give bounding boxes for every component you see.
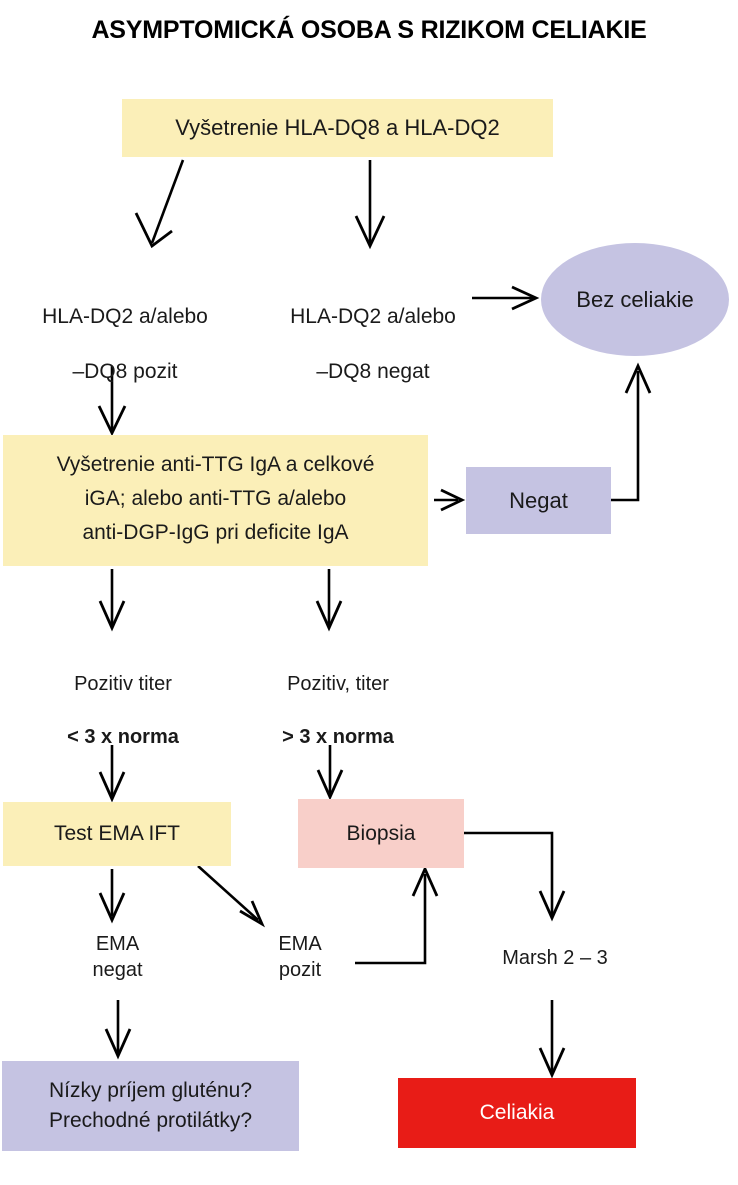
label-ema-pozit: EMA pozit [230, 931, 370, 984]
label-hla-positive-line2: –DQ8 pozit [0, 358, 250, 386]
node-bez-celiakie[interactable]: Bez celiakie [541, 243, 729, 356]
serology-line-2: iGA; alebo anti-TTG a/alebo [3, 482, 428, 516]
edge-biopsia-to-marsh [464, 833, 564, 918]
serology-line-1: Vyšetrenie anti-TTG IgA a celkové [3, 448, 428, 482]
label-hla-negative-line2: –DQ8 negat [248, 358, 498, 386]
edge-serology-to-titerlow [100, 569, 124, 628]
node-biopsia[interactable]: Biopsia [298, 799, 464, 868]
node-serology-test[interactable]: Vyšetrenie anti-TTG IgA a celkové iGA; a… [3, 435, 428, 566]
label-titer-low: Pozitiv titer < 3 x norma [18, 645, 228, 777]
node-celiakia[interactable]: Celiakia [398, 1078, 636, 1148]
edge-negat-to-nocel [611, 366, 650, 500]
edge-marsh-to-celiakia [540, 1000, 564, 1075]
label-hla-negative: HLA-DQ2 a/alebo –DQ8 negat [248, 275, 498, 414]
serology-line-3: anti-DGP-IgG pri deficite IgA [3, 516, 428, 550]
label-titer-low-line2: < 3 x norma [18, 724, 228, 750]
label-hla-negative-line1: HLA-DQ2 a/alebo [248, 303, 498, 331]
arrow-layer [0, 0, 738, 1185]
edge-emanegat-to-lowglu [106, 1000, 130, 1056]
node-test-ema-ift[interactable]: Test EMA IFT [3, 802, 231, 866]
edge-hlatest-to-hlapos [136, 160, 183, 246]
label-ema-negat: EMA negat [40, 931, 195, 984]
node-low-gluten-question[interactable]: Nízky príjem gluténu? Prechodné protilát… [2, 1061, 299, 1151]
edge-hlatest-to-hlaneg [356, 160, 384, 246]
node-hla-test[interactable]: Vyšetrenie HLA-DQ8 a HLA-DQ2 [122, 99, 553, 157]
label-marsh: Marsh 2 – 3 [460, 945, 650, 971]
label-titer-high: Pozitiv, titer > 3 x norma [228, 645, 448, 777]
label-titer-low-line1: Pozitiv titer [18, 671, 228, 697]
label-hla-positive: HLA-DQ2 a/alebo –DQ8 pozit [0, 275, 250, 414]
node-negat[interactable]: Negat [466, 467, 611, 534]
flowchart-canvas: ASYMPTOMICKÁ OSOBA S RIZIKOM CELIAKIE [0, 0, 738, 1185]
edge-emaift-to-emapozit [198, 866, 262, 924]
page-title: ASYMPTOMICKÁ OSOBA S RIZIKOM CELIAKIE [0, 16, 738, 45]
label-titer-high-line2: > 3 x norma [228, 724, 448, 750]
edge-emaift-to-emanegat [100, 869, 124, 920]
edge-serology-to-negat [434, 490, 462, 510]
label-hla-positive-line1: HLA-DQ2 a/alebo [0, 303, 250, 331]
label-titer-high-line1: Pozitiv, titer [228, 671, 448, 697]
edge-serology-to-titerhigh [317, 569, 341, 628]
